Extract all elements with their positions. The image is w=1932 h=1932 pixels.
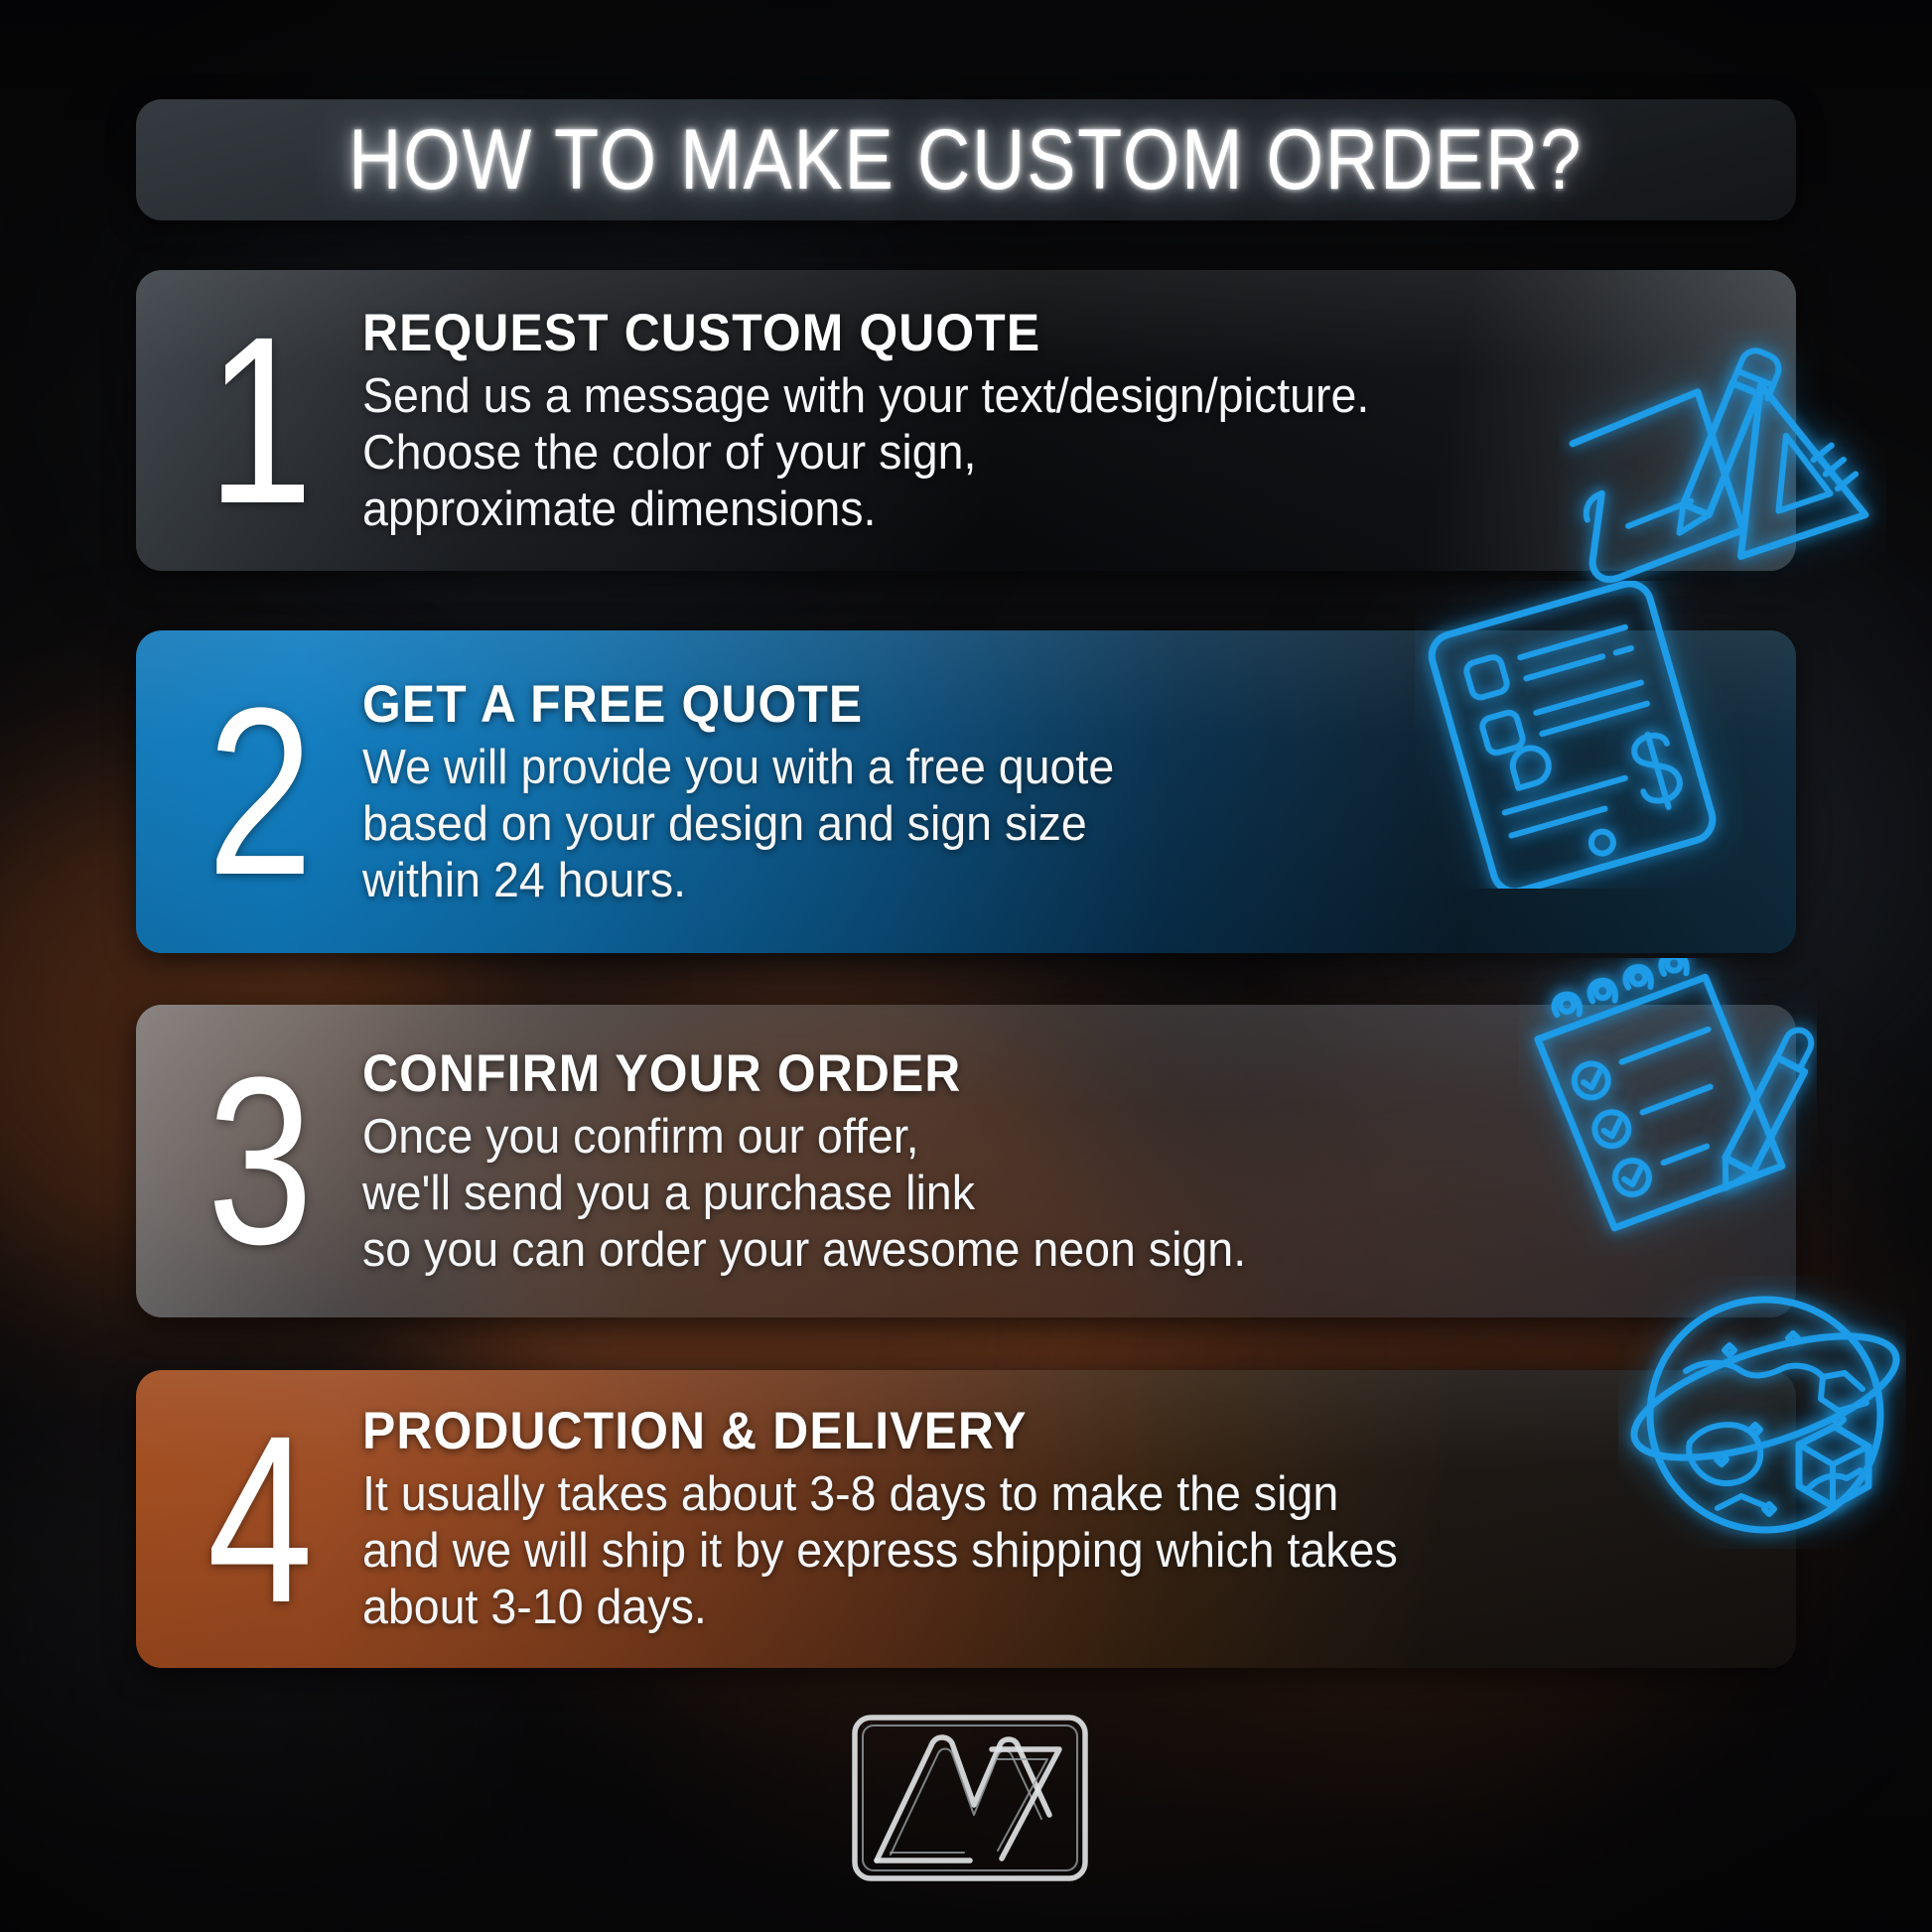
step-body-line: and we will ship it by express shipping …	[362, 1523, 1398, 1580]
step-card-2: 2 GET A FREE QUOTE We will provide you w…	[136, 630, 1796, 953]
step-body-line: approximate dimensions.	[362, 482, 1369, 538]
step-body-line: It usually takes about 3-8 days to make …	[362, 1466, 1398, 1523]
step-body-line: Send us a message with your text/design/…	[362, 368, 1369, 425]
page-title-bar: HOW TO MAKE CUSTOM ORDER?	[136, 99, 1796, 220]
neon-monogram-logo	[847, 1710, 1093, 1886]
step-title-3: CONFIRM YOUR ORDER	[362, 1044, 1237, 1103]
step-body-line: Once you confirm our offer,	[362, 1109, 1246, 1166]
infographic-stage: HOW TO MAKE CUSTOM ORDER? 1 REQUEST CUST…	[0, 0, 1932, 1932]
step-body-line: Choose the color of your sign,	[362, 425, 1369, 482]
step-number-2: 2	[185, 682, 336, 901]
step-title-4: PRODUCTION & DELIVERY	[362, 1402, 1387, 1460]
step-body-line: within 24 hours.	[362, 853, 1114, 909]
content-layer: HOW TO MAKE CUSTOM ORDER? 1 REQUEST CUST…	[0, 0, 1932, 1932]
step-body-3: Once you confirm our offer, we'll send y…	[362, 1109, 1246, 1278]
step-body-2: We will provide you with a free quote ba…	[362, 740, 1114, 908]
step-body-line: about 3-10 days.	[362, 1580, 1398, 1636]
step-body-line: we'll send you a purchase link	[362, 1166, 1246, 1222]
step-text-1: REQUEST CUSTOM QUOTE Send us a message w…	[354, 304, 1423, 538]
step-body-line: We will provide you with a free quote	[362, 740, 1114, 796]
step-text-2: GET A FREE QUOTE We will provide you wit…	[354, 675, 1154, 909]
step-number-1: 1	[185, 311, 336, 530]
step-number-4: 4	[185, 1410, 336, 1629]
page-title: HOW TO MAKE CUSTOM ORDER?	[349, 117, 1584, 203]
step-text-4: PRODUCTION & DELIVERY It usually takes a…	[354, 1402, 1452, 1636]
step-body-4: It usually takes about 3-8 days to make …	[362, 1466, 1398, 1635]
step-card-4: 4 PRODUCTION & DELIVERY It usually takes…	[136, 1370, 1796, 1668]
step-text-3: CONFIRM YOUR ORDER Once you confirm our …	[354, 1044, 1293, 1279]
step-body-line: based on your design and sign size	[362, 796, 1114, 853]
step-number-3: 3	[185, 1051, 336, 1271]
step-title-2: GET A FREE QUOTE	[362, 675, 1106, 734]
step-card-1: 1 REQUEST CUSTOM QUOTE Send us a message…	[136, 270, 1796, 571]
step-body-1: Send us a message with your text/design/…	[362, 368, 1369, 537]
step-title-1: REQUEST CUSTOM QUOTE	[362, 304, 1359, 362]
step-body-line: so you can order your awesome neon sign.	[362, 1222, 1246, 1279]
step-card-3: 3 CONFIRM YOUR ORDER Once you confirm ou…	[136, 1005, 1796, 1317]
